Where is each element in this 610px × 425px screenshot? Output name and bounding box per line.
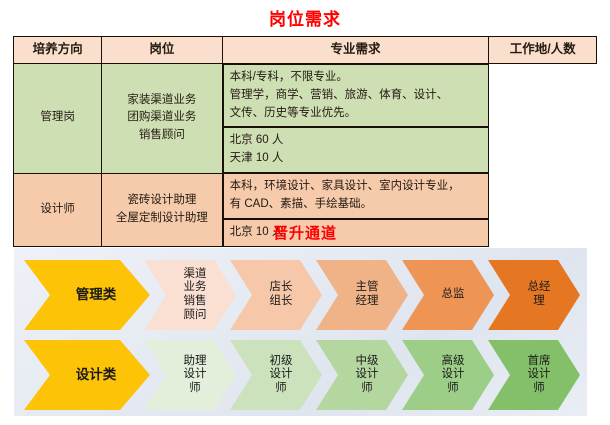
promotion-step-label: 助理 设计 师 [170,355,211,396]
cell-requirements: 本科，环境设计、家具设计、室内设计专业， 有 CAD、素描、手绘基础。 [223,173,489,219]
track-head-design: 设计类 [24,340,150,410]
promotion-step-design-1: 助理 设计 师 [144,340,236,410]
step-line: 主管 [356,281,379,295]
promotion-path-diagram: 管理类 渠道 业务 销售 顾问 店长 组长 主管 经理 总监 [14,248,587,416]
requirement-line: 本科/专科，不限专业。 [230,69,482,87]
step-line: 首席 [528,355,551,369]
step-line: 设计 [184,368,207,382]
requirement-line: 本科，环境设计、家具设计、室内设计专业， [230,178,482,196]
jobs-section-title: 岗位需求 [0,5,610,30]
track-head-label: 管理类 [54,287,121,303]
step-line: 师 [270,382,293,396]
table-header-row: 培养方向 岗位 专业需求 工作地/人数 [14,37,597,64]
promotion-step-design-4: 高级 设计 师 [402,340,494,410]
step-line: 设计 [270,368,293,382]
promotion-step-design-3: 中级 设计 师 [316,340,408,410]
step-line: 组长 [270,295,293,309]
step-line: 中级 [356,355,379,369]
track-head-management: 管理类 [24,260,150,330]
step-line: 初级 [270,355,293,369]
promotion-step-label: 总监 [428,288,469,302]
position-item: 瓷砖设计助理 [108,192,215,210]
position-item: 销售顾问 [108,127,215,145]
step-line: 高级 [442,355,465,369]
promotion-step-mgmt-2: 店长 组长 [230,260,322,330]
step-line: 总监 [442,288,465,302]
promotion-step-label: 初级 设计 师 [256,355,297,396]
promotion-step-design-2: 初级 设计 师 [230,340,322,410]
column-header-location-count: 工作地/人数 [489,37,597,64]
location-line: 天津 10 人 [230,150,482,168]
step-line: 业务 [184,281,207,295]
promotion-step-label: 高级 设计 师 [428,355,469,396]
promotion-step-mgmt-3: 主管 经理 [316,260,408,330]
step-line: 销售 [184,295,207,309]
step-line: 师 [356,382,379,396]
step-line: 师 [528,382,551,396]
position-item: 团购渠道业务 [108,109,215,127]
step-line: 助理 [184,355,207,369]
cell-positions: 家装渠道业务 团购渠道业务 销售顾问 [102,64,222,174]
cell-locations: 北京 60 人 天津 10 人 [223,127,489,173]
jobs-requirements-table: 培养方向 岗位 专业需求 工作地/人数 管理岗 家装渠道业务 团购渠道业务 销售… [13,36,597,247]
promotion-step-label: 首席 设计 师 [514,355,555,396]
promotion-step-label: 总经 理 [514,281,555,308]
column-header-requirements: 专业需求 [222,37,489,64]
requirement-line: 有 CAD、素描、手绘基础。 [230,196,482,214]
promotion-step-mgmt-1: 渠道 业务 销售 顾问 [144,260,236,330]
column-header-position: 岗位 [102,37,222,64]
promotion-step-mgmt-5: 总经 理 [488,260,580,330]
requirement-line: 管理学，商学、营销、旅游、体育、设计、 [230,87,482,105]
promotion-step-design-5: 首席 设计 师 [488,340,580,410]
position-item: 家装渠道业务 [108,92,215,110]
cell-requirements: 本科/专科，不限专业。 管理学，商学、营销、旅游、体育、设计、 文传、历史等专业… [223,64,489,127]
promotion-track-management: 管理类 渠道 业务 销售 顾问 店长 组长 主管 经理 总监 [14,260,587,330]
step-line: 师 [442,382,465,396]
step-line: 总经 [528,281,551,295]
step-line: 渠道 [184,268,207,282]
step-line: 店长 [270,281,293,295]
table-row: 管理岗 家装渠道业务 团购渠道业务 销售顾问 本科/专科，不限专业。 管理学，商… [14,64,597,174]
requirement-line: 文传、历史等专业优先。 [230,105,482,123]
promotion-track-design: 设计类 助理 设计 师 初级 设计 师 中级 设计 师 高级 [14,340,587,410]
promotion-step-label: 中级 设计 师 [342,355,383,396]
step-line: 经理 [356,295,379,309]
promotion-step-label: 店长 组长 [256,281,297,308]
step-line: 顾问 [184,309,207,323]
promotion-step-label: 主管 经理 [342,281,383,308]
cell-direction: 管理岗 [14,64,102,174]
step-line: 理 [528,295,551,309]
step-line: 设计 [442,368,465,382]
step-line: 设计 [356,368,379,382]
column-header-direction: 培养方向 [14,37,102,64]
promotion-step-label: 渠道 业务 销售 顾问 [170,268,211,322]
step-line: 设计 [528,368,551,382]
promotion-section-title: 晋升通道 [0,222,610,243]
location-line: 北京 60 人 [230,132,482,150]
track-head-label: 设计类 [54,367,121,383]
promotion-step-mgmt-4: 总监 [402,260,494,330]
step-line: 师 [184,382,207,396]
